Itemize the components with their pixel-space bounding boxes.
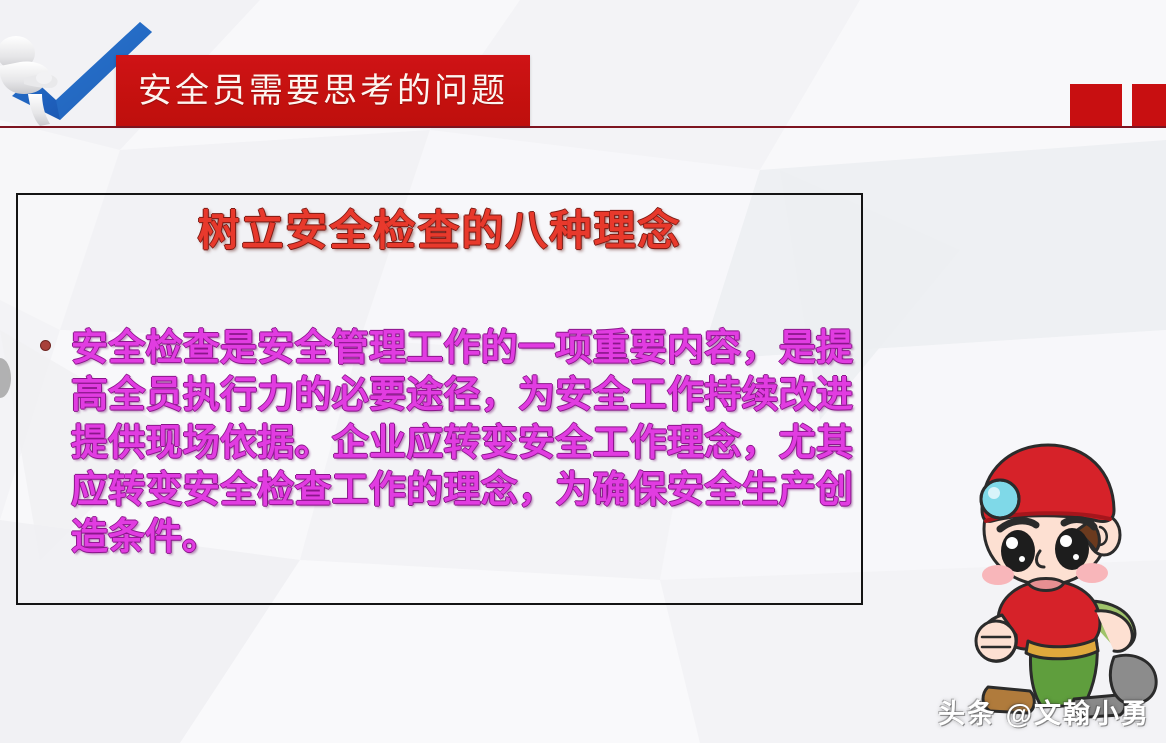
watermark-text: 头条 @文翰小勇 [938,692,1150,731]
cartoon-miner-boy-icon [924,425,1166,725]
header-divider-line [0,126,1166,128]
bullet-item: 安全检查是安全管理工作的一项重要内容，是提高全员执行力的必要途径，为安全工作持续… [40,324,853,561]
content-heading: 树立安全检查的八种理念 [18,205,861,258]
slide-canvas: 安全员需要思考的问题 树立安全检查的八种理念 安全检查是安全管理工作的一项重要内… [0,0,1166,743]
content-box: 树立安全检查的八种理念 安全检查是安全管理工作的一项重要内容，是提高全员执行力的… [16,193,863,605]
bullet-paragraph: 安全检查是安全管理工作的一项重要内容，是提高全员执行力的必要途径，为安全工作持续… [71,324,853,561]
corner-block-2 [1132,84,1166,127]
corner-block-1 [1070,84,1122,127]
bullet-marker-icon [40,340,51,351]
slide-header: 安全员需要思考的问题 [0,0,1166,128]
header-banner-title: 安全员需要思考的问题 [138,74,508,108]
edge-nav-nub-icon[interactable] [0,358,11,398]
header-banner: 安全员需要思考的问题 [116,55,530,126]
corner-accent-blocks [1070,84,1166,127]
